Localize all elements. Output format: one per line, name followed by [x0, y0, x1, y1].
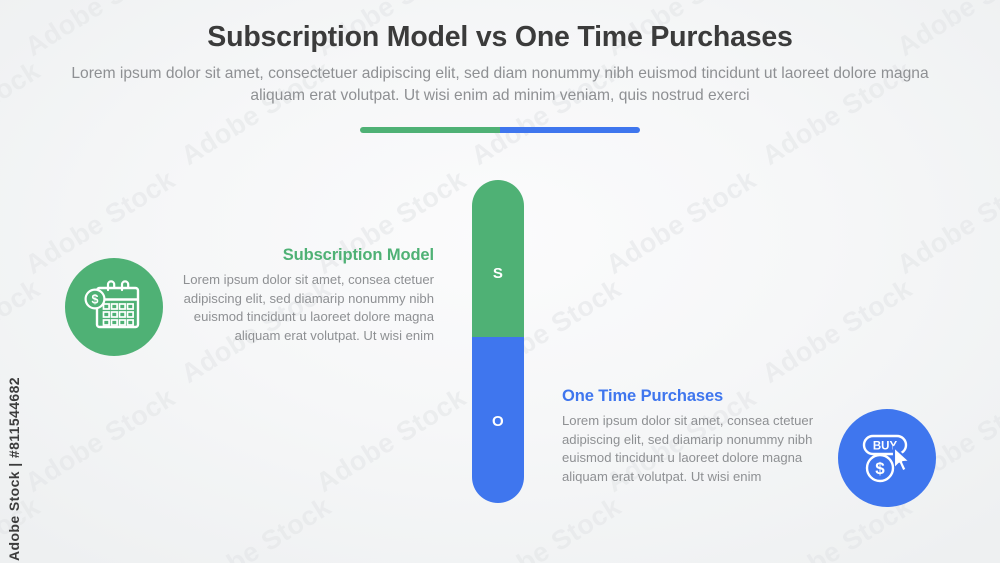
- comparison-bar: S O: [472, 180, 524, 503]
- comparison-bar-top-segment[interactable]: S: [472, 180, 524, 337]
- comparison-bar-top-label: S: [472, 265, 524, 282]
- section-one-time-purchases: One Time Purchases Lorem ipsum dolor sit…: [562, 387, 818, 486]
- comparison-bar-bottom-segment[interactable]: O: [472, 337, 524, 503]
- watermark-tile: Adobe Stock: [175, 491, 336, 563]
- watermark-tile: Adobe Stock: [310, 382, 471, 499]
- section-body-subscription-model: Lorem ipsum dolor sit amet, consea ctetu…: [178, 271, 434, 345]
- page-title: Subscription Model vs One Time Purchases: [0, 22, 1000, 54]
- calendar-dollar-icon-circle: $: [65, 258, 163, 356]
- section-heading-one-time-purchases: One Time Purchases: [562, 387, 818, 406]
- header-divider: [360, 127, 640, 133]
- section-heading-subscription-model: Subscription Model: [178, 246, 434, 265]
- svg-text:$: $: [875, 459, 885, 478]
- infographic-canvas: Adobe StockAdobe StockAdobe StockAdobe S…: [0, 0, 1000, 563]
- calendar-dollar-icon: $: [84, 278, 144, 336]
- stock-credit: Adobe Stock | #811544682: [0, 0, 30, 563]
- divider-left-segment: [360, 127, 500, 133]
- divider-right-segment: [500, 127, 640, 133]
- watermark-tile: Adobe Stock: [601, 164, 762, 281]
- watermark-tile: Adobe Stock: [756, 273, 917, 390]
- buy-button-cursor-dollar-icon-circle: BUY $: [838, 409, 936, 507]
- section-subscription-model: Subscription Model Lorem ipsum dolor sit…: [178, 246, 434, 345]
- comparison-bar-bottom-label: O: [472, 413, 524, 430]
- watermark-tile: Adobe Stock: [20, 382, 181, 499]
- watermark-tile: Adobe Stock: [891, 164, 1000, 281]
- page-subtitle: Lorem ipsum dolor sit amet, consectetuer…: [68, 63, 933, 107]
- svg-text:$: $: [92, 293, 99, 307]
- section-body-one-time-purchases: Lorem ipsum dolor sit amet, consea ctetu…: [562, 412, 818, 486]
- stock-credit-label: Adobe Stock | #811544682: [6, 377, 22, 561]
- buy-button-cursor-dollar-icon: BUY $: [857, 429, 917, 487]
- header: Subscription Model vs One Time Purchases…: [0, 22, 1000, 107]
